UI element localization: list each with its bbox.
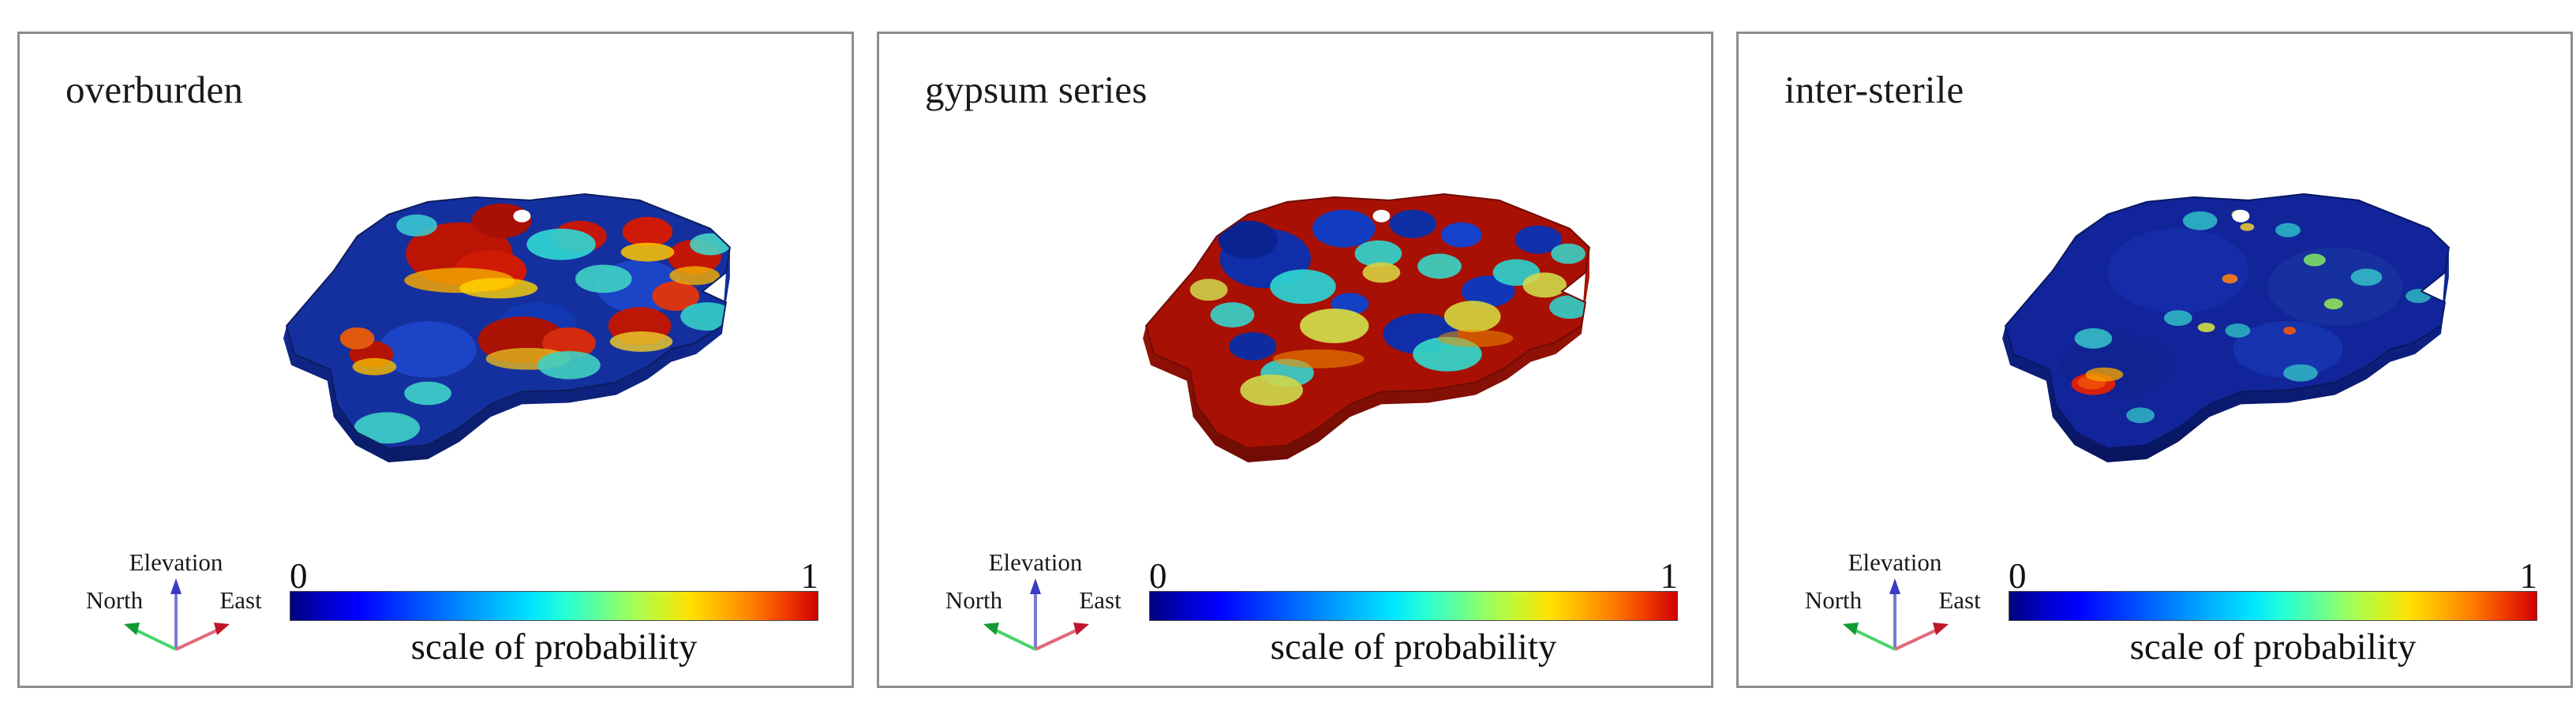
colorbar-min-label: 0 [2009,559,2027,594]
colorbar-max-label: 1 [2520,559,2538,594]
colorbar-gradient [1149,591,1678,621]
figure-three-panel-probability-models: overburden [0,0,2576,718]
colorbar-caption: scale of probability [290,626,818,668]
model-3d-gypsum-series [879,89,1711,563]
colorbar-ticks: 0 1 [290,555,818,591]
east-axis-arrow [1035,623,1089,649]
orientation-triad: Elevation North East [58,547,294,665]
elevation-label: Elevation [129,548,223,576]
colorbar-legend: 0 1 scale of probability [1149,555,1678,668]
north-label: North [945,586,1003,614]
colorbar-max-label: 1 [1661,559,1679,594]
block-model-svg [1739,89,2570,563]
north-axis-arrow [983,623,1035,649]
north-axis-arrow [1843,623,1895,649]
colorbar-ticks: 0 1 [1149,555,1678,591]
block-model-svg [20,89,852,563]
panel-overburden: overburden [17,32,854,688]
east-label: East [1938,586,1981,614]
colorbar-min-label: 0 [290,559,308,594]
colorbar-legend: 0 1 scale of probability [290,555,818,668]
east-label: East [1079,586,1121,614]
elevation-axis-arrow [1889,578,1900,649]
block-model-svg [879,89,1711,563]
model-3d-overburden [20,89,852,563]
colorbar-max-label: 1 [801,559,819,594]
orientation-triad: Elevation North East [917,547,1154,665]
colorbar-gradient [2009,591,2537,621]
colorbar-min-label: 0 [1149,559,1167,594]
north-axis-arrow [124,623,176,649]
east-axis-arrow [176,623,230,649]
elevation-label: Elevation [1848,548,1942,576]
colorbar-legend: 0 1 scale of probability [2009,555,2537,668]
colorbar-ticks: 0 1 [2009,555,2537,591]
elevation-axis-arrow [170,578,182,649]
elevation-label: Elevation [989,548,1083,576]
colorbar-gradient [290,591,818,621]
east-label: East [219,586,262,614]
elevation-axis-arrow [1030,578,1041,649]
model-3d-inter-sterile [1739,89,2570,563]
colorbar-caption: scale of probability [2009,626,2537,668]
orientation-triad: Elevation North East [1777,547,2013,665]
north-label: North [86,586,144,614]
east-axis-arrow [1895,623,1949,649]
panel-inter-sterile: inter-sterile [1736,32,2573,688]
colorbar-caption: scale of probability [1149,626,1678,668]
panel-gypsum-series: gypsum series [877,32,1713,688]
north-label: North [1805,586,1863,614]
